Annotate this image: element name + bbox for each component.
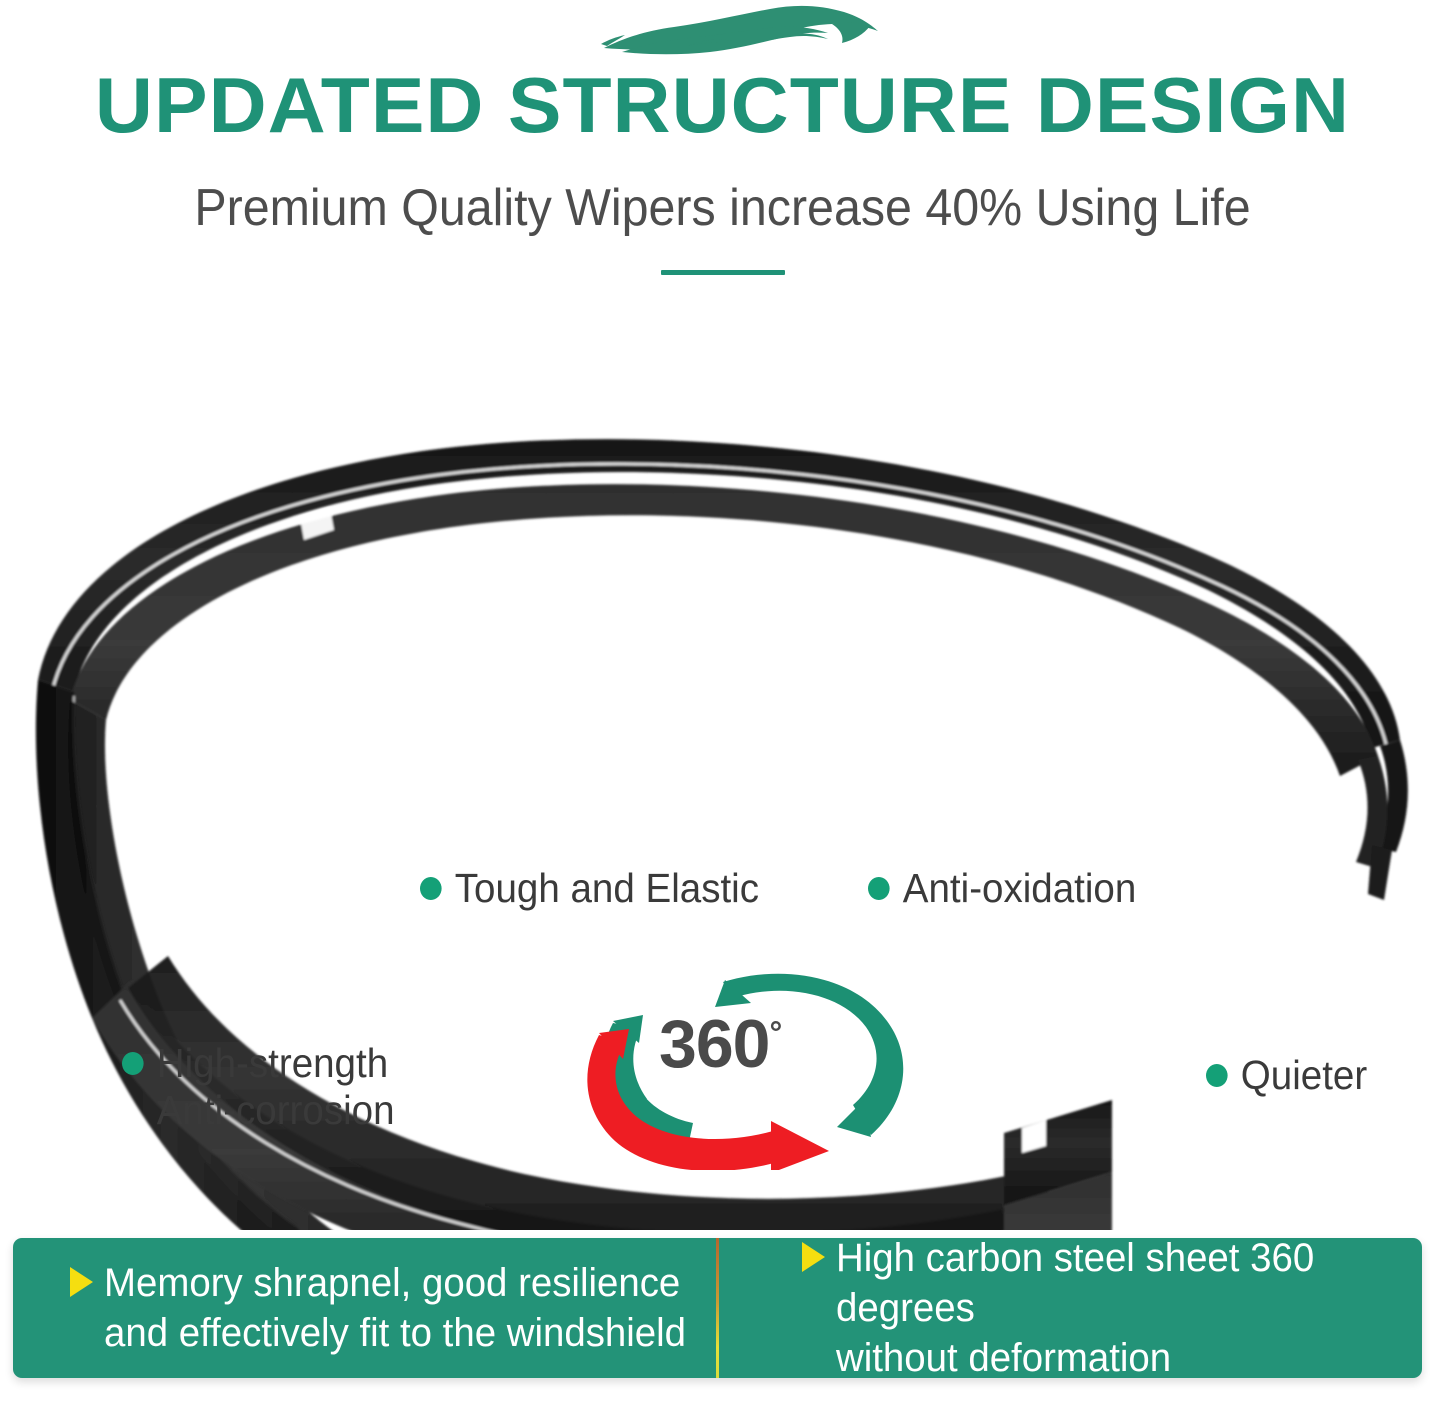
page-subtitle: Premium Quality Wipers increase 40% Usin…: [51, 178, 1395, 238]
feature-anti-oxidation: Anti-oxidation: [868, 865, 1136, 912]
bullet-icon: [420, 877, 442, 900]
feature-label: Quieter: [1241, 1052, 1367, 1099]
product-image-area: Tough and Elastic Anti-oxidation High-st…: [0, 300, 1445, 1230]
banner-divider: [716, 1238, 719, 1378]
feature-label: High-strength Anti-corrosion: [157, 1040, 395, 1134]
car-silhouette-icon: [592, 4, 882, 62]
degree-symbol: °: [769, 1014, 781, 1050]
bullet-icon: [122, 1052, 144, 1075]
banner-item-right: High carbon steel sheet 360 degrees with…: [718, 1238, 1423, 1378]
feature-quieter: Quieter: [1206, 1052, 1367, 1099]
360-degree-badge: 360°: [575, 955, 915, 1170]
triangle-right-icon: [802, 1242, 825, 1272]
bullet-icon: [868, 877, 890, 900]
badge-number: 360: [659, 1006, 769, 1082]
feature-tough-and-elastic: Tough and Elastic: [420, 865, 759, 912]
feature-label: Anti-oxidation: [903, 865, 1137, 912]
header-section: UPDATED STRUCTURE DESIGN Premium Quality…: [0, 0, 1445, 300]
badge-value: 360°: [659, 1010, 781, 1078]
banner-item-left: Memory shrapnel, good resilience and eff…: [13, 1238, 718, 1378]
banner-text: Memory shrapnel, good resilience and eff…: [104, 1258, 686, 1358]
feature-label: Tough and Elastic: [455, 865, 759, 912]
bottom-feature-banner: Memory shrapnel, good resilience and eff…: [13, 1238, 1422, 1378]
feature-high-strength-anti-corrosion: High-strength Anti-corrosion: [122, 1040, 395, 1134]
banner-text: High carbon steel sheet 360 degrees with…: [836, 1233, 1399, 1383]
title-divider: [661, 270, 785, 275]
bullet-icon: [1206, 1064, 1228, 1087]
page-title: UPDATED STRUCTURE DESIGN: [0, 63, 1445, 147]
triangle-right-icon: [70, 1267, 93, 1297]
